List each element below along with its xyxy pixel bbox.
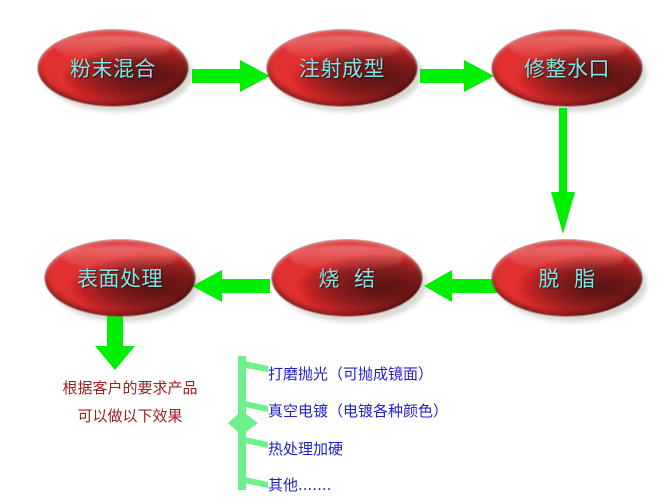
process-node-surface-treatment[interactable]: 表面处理 — [45, 240, 195, 316]
node-label: 注射成型 — [299, 53, 385, 83]
process-node-gate-trimming[interactable]: 修整水口 — [492, 30, 642, 106]
arrow-down-trimming-to-degreasing — [548, 108, 580, 236]
flowchart-canvas: 粉末混合 注射成型 修整水口 脱 脂 烧 结 表面处理 — [0, 0, 660, 500]
effects-caption: 根据客户的要求产品 可以做以下效果 — [26, 374, 234, 430]
effect-item-heat-treatment: 热处理加硬 — [268, 438, 343, 459]
arrow-left-sintering-to-surface — [190, 267, 270, 305]
node-label: 修整水口 — [524, 53, 610, 83]
process-node-powder-mixing[interactable]: 粉末混合 — [38, 30, 188, 106]
effect-item-vacuum-plating: 真空电镀（电镀各种颜色） — [268, 400, 448, 421]
process-node-degreasing[interactable]: 脱 脂 — [492, 240, 642, 316]
effect-item-others: 其他....... — [268, 474, 331, 495]
effects-caption-line-1: 根据客户的要求产品 — [26, 374, 234, 402]
arrow-right-molding-to-trimming — [420, 57, 496, 95]
process-node-sintering[interactable]: 烧 结 — [272, 240, 422, 316]
effect-item-polishing: 打磨抛光（可抛成镜面） — [268, 363, 433, 384]
arrow-down-surface-to-effects — [93, 312, 137, 372]
node-label: 粉末混合 — [70, 53, 156, 83]
arrow-right-powder-to-molding — [192, 57, 272, 95]
effects-caption-line-2: 可以做以下效果 — [26, 402, 234, 430]
arrow-left-degreasing-to-sintering — [422, 267, 498, 305]
process-node-injection-molding[interactable]: 注射成型 — [267, 30, 417, 106]
node-label: 烧 结 — [318, 263, 375, 293]
node-label: 脱 脂 — [538, 263, 595, 293]
node-label: 表面处理 — [77, 263, 163, 293]
